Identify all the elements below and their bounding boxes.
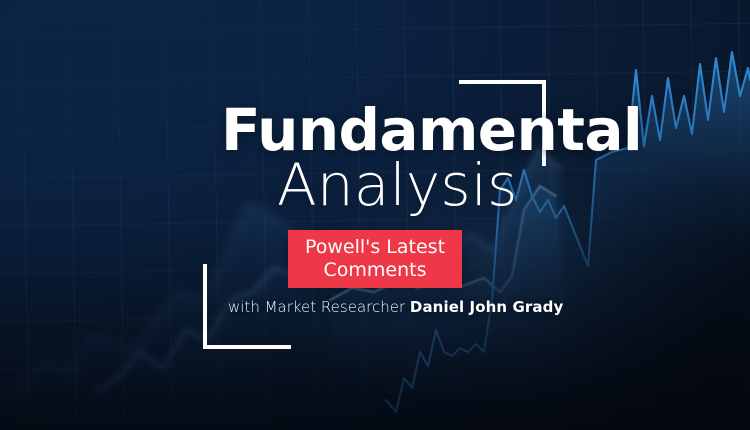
corner-bracket-top-right-horizontal — [459, 80, 546, 84]
corner-bracket-top-right-vertical — [542, 80, 546, 166]
broadcast-title-card: Fundamental Analysis Powell's Latest Com… — [0, 0, 750, 430]
corner-bracket-bottom-left-vertical — [203, 264, 207, 349]
corner-bracket-bottom-left-horizontal — [203, 345, 291, 349]
center-glow — [0, 0, 750, 430]
